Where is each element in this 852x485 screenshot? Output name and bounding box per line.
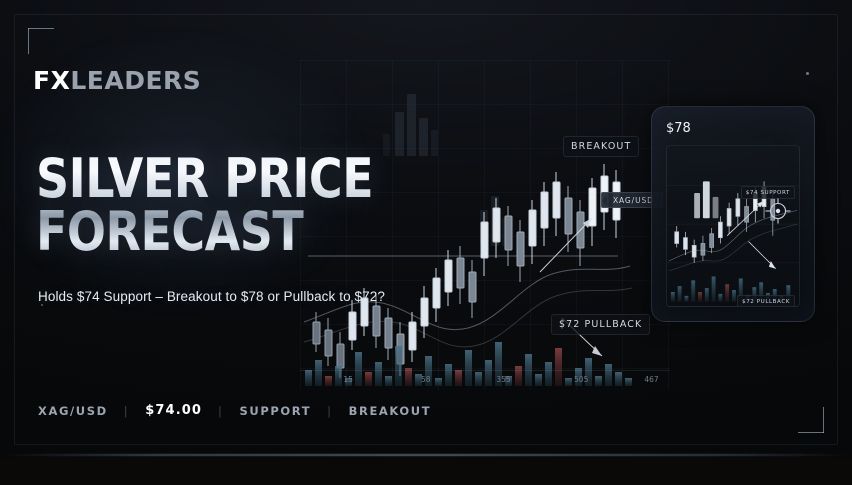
ticker-tag-breakout: BREAKOUT [349, 404, 432, 418]
side-panel-plot [667, 146, 799, 306]
side-panel-price: $78 [666, 121, 691, 136]
axis-tick-3: 505 [574, 375, 588, 384]
ticker-separator-3: | [327, 404, 332, 418]
chart-axis-line [300, 370, 670, 371]
target-crosshair-icon [765, 198, 791, 224]
bottom-highlight-line [0, 454, 852, 456]
brand-logo-suffix: LEADERS [70, 66, 201, 95]
side-pullback-arrow [749, 242, 776, 269]
breakout-annotation: BREAKOUT [563, 136, 639, 157]
ticker-separator-1: | [124, 404, 129, 418]
brand-logo: FXLEADERS [33, 66, 201, 95]
corner-bracket-bottom-right [798, 407, 824, 433]
page-title: SILVER PRICE FORECAST [36, 152, 516, 258]
page-title-line-2: FORECAST [36, 205, 516, 258]
axis-tick-2: 355 [496, 375, 510, 384]
side-panel: $78 [651, 106, 815, 322]
ticker-tag-support: SUPPORT [240, 404, 312, 418]
side-pullback-annotation: $72 PULLBACK [737, 295, 795, 307]
pullback-annotation: $72 PULLBACK [551, 314, 650, 335]
decorative-dot-right [806, 72, 809, 75]
poster-canvas: 15 58 355 505 467 BREAKOUT $72 PULLBACK … [0, 0, 852, 485]
axis-tick-4: 467 [644, 375, 658, 384]
ticker-bar: XAG/USD | $74.00 | SUPPORT | BREAKOUT [38, 403, 431, 418]
chart-x-axis: 15 58 355 505 467 [300, 375, 670, 389]
side-panel-chart: $74 SUPPORT $72 PULLBACK [666, 145, 800, 307]
ticker-separator-2: | [218, 404, 223, 418]
subtitle: Holds $74 Support – Breakout to $78 or P… [38, 289, 385, 304]
side-moving-average-2 [669, 224, 797, 271]
axis-tick-0: 15 [343, 375, 353, 384]
side-support-arrow [727, 201, 764, 236]
axis-tick-1: 58 [421, 375, 431, 384]
brand-logo-prefix: FX [33, 66, 70, 95]
side-decorative-bars [694, 181, 718, 218]
decorative-dot-left [41, 304, 43, 306]
bottom-band [0, 458, 852, 485]
ticker-price: $74.00 [145, 403, 202, 418]
ticker-symbol: XAG/USD [38, 404, 108, 418]
